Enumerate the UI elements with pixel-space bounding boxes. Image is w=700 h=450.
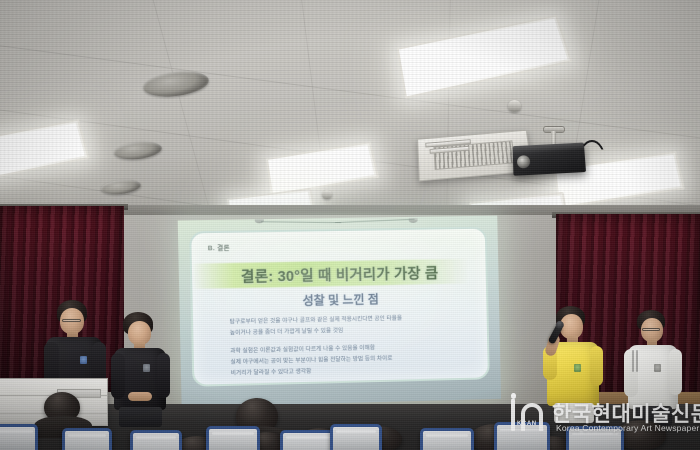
shirt-logo [574,364,581,372]
shirt-logo [143,364,150,372]
projection-screen: B. 결론 결론: 30°일 때 비거리가 가장 큼 성찰 및 느낀 점 탐구로… [178,216,501,408]
presenter-arm [111,353,125,399]
audience-chair [566,426,624,450]
fluorescent-panel-light [0,119,90,183]
projector-mount-pole [551,131,556,148]
presenter-hands [128,392,152,401]
audience-chair [62,428,112,450]
shirt-logo [654,364,661,372]
ceiling-mounted-projector [513,143,586,176]
fluorescent-panel-light [397,15,573,99]
glasses-icon [62,319,81,322]
audience-chair [130,430,182,450]
photo-scene: B. 결론 결론: 30°일 때 비거리가 가장 큼 성찰 및 느낀 점 탐구로… [0,0,700,450]
presenter-arm [157,353,170,398]
ceiling-sprinkler-head [508,100,521,112]
audience-chair [206,426,260,450]
ceiling-tile-grid [0,0,700,215]
presenter-legs [554,403,594,423]
glasses-icon [642,328,660,331]
slide-section-label: B. 결론 [208,242,230,252]
presenter-legs [119,407,162,427]
projector-lens [517,155,531,168]
recessed-ceiling-speaker [142,68,210,100]
audience-chair [330,424,382,450]
presenter-arm [590,346,603,386]
audience-chair [494,422,550,450]
fluorescent-panel-light [266,141,379,196]
ceiling [0,0,700,215]
slide-body: 탐구로부터 얻은 것을 야구나 골프와 같은 실제 적용시킨다면 공인 타율을 … [230,312,471,379]
recessed-ceiling-speaker [100,178,141,196]
slide-subtitle: 성찰 및 느낀 점 [192,288,486,311]
audience-chair [280,430,336,450]
projector-ceiling-mount [543,126,565,133]
audience-chair [0,424,38,450]
slide-card: B. 결론 결론: 30°일 때 비거리가 가장 큼 성찰 및 느낀 점 탐구로… [189,227,490,387]
shirt-stripe [636,350,638,372]
projector-power-cable [578,140,606,162]
shirt-stripe [632,350,634,372]
ceiling-sprinkler-head [322,190,332,199]
fluorescent-panel-light [554,151,685,209]
presenter-arm [669,349,682,395]
ceiling-cassette-air-conditioner [417,130,532,182]
shirt-logo [80,356,87,364]
audience-chair [420,428,474,450]
recessed-ceiling-speaker [113,140,163,162]
